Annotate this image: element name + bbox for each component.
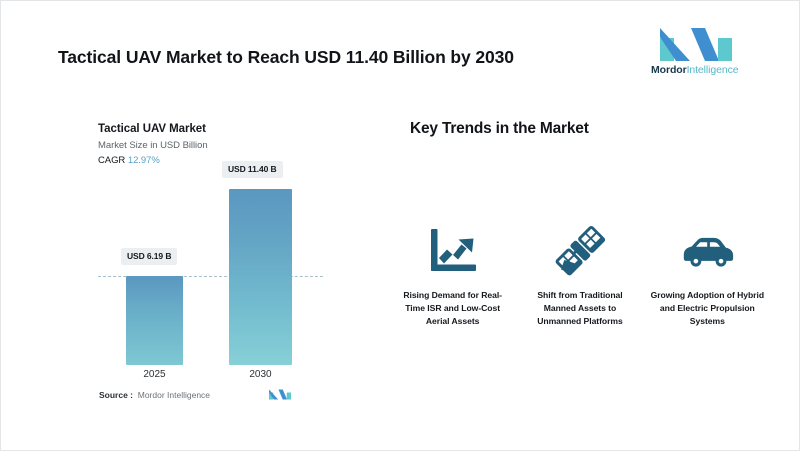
chart-header-block: Tactical UAV Market Market Size in USD B… bbox=[98, 123, 208, 166]
trend-caption: Growing Adoption of Hybrid and Electric … bbox=[648, 289, 766, 328]
bar-value-label-2025: USD 6.19 B bbox=[121, 248, 177, 265]
source-label: Source : bbox=[99, 390, 133, 400]
brand-logo: MordorIntelligence bbox=[651, 28, 761, 78]
trend-caption: Shift from Traditional Manned Assets to … bbox=[521, 289, 639, 328]
bar-2025[interactable] bbox=[126, 276, 183, 365]
trend-caption: Rising Demand for Real-Time ISR and Low-… bbox=[394, 289, 512, 328]
cagr-value: 12.97% bbox=[128, 155, 160, 166]
source-value: Mordor Intelligence bbox=[138, 390, 210, 400]
chart-title: Tactical UAV Market bbox=[98, 123, 208, 135]
chart-subtitle: Market Size in USD Billion bbox=[98, 140, 208, 151]
bar-value-label-2030: USD 11.40 B bbox=[222, 161, 283, 178]
car-icon bbox=[678, 223, 736, 279]
chart-cagr: CAGR 12.97% bbox=[98, 155, 208, 166]
cagr-label: CAGR bbox=[98, 155, 125, 166]
bar-2030[interactable] bbox=[229, 189, 292, 365]
chart-source: Source : Mordor Intelligence bbox=[99, 390, 210, 400]
mordor-m-logo-icon bbox=[660, 28, 732, 61]
trend-item: Growing Adoption of Hybrid and Electric … bbox=[644, 223, 771, 328]
page-title: Tactical UAV Market to Reach USD 11.40 B… bbox=[58, 47, 514, 68]
source-mordor-m-logo-icon bbox=[269, 388, 291, 401]
x-axis-label-2025: 2025 bbox=[126, 369, 183, 380]
infographic-page: Tactical UAV Market to Reach USD 11.40 B… bbox=[0, 0, 800, 451]
trend-item: Shift from Traditional Manned Assets to … bbox=[516, 223, 643, 328]
growth-chart-arrow-icon bbox=[425, 223, 481, 279]
x-axis-label-2030: 2030 bbox=[229, 369, 292, 380]
trend-item: Rising Demand for Real-Time ISR and Low-… bbox=[389, 223, 516, 328]
brand-word-secondary: Intelligence bbox=[687, 64, 739, 76]
key-trends-list: Rising Demand for Real-Time ISR and Low-… bbox=[389, 223, 771, 328]
satellite-icon bbox=[553, 223, 607, 279]
key-trends-heading: Key Trends in the Market bbox=[410, 120, 589, 138]
bar-chart: USD 6.19 B USD 11.40 B 2025 2030 bbox=[98, 177, 323, 365]
brand-word-primary: Mordor bbox=[651, 64, 687, 76]
brand-logo-wordmark: MordorIntelligence bbox=[651, 64, 743, 76]
